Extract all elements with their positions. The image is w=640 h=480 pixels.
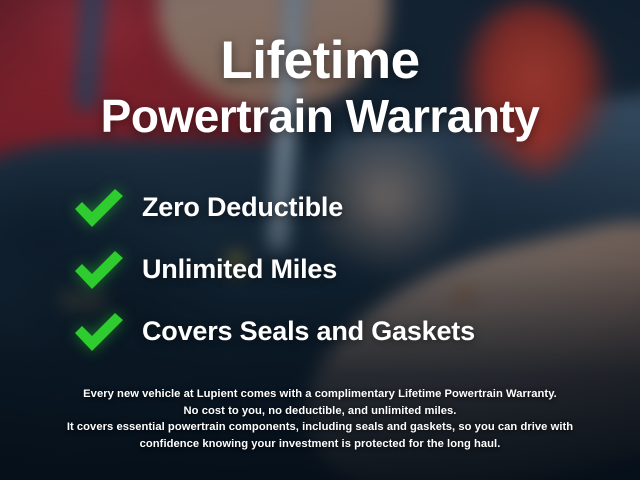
body-line: No cost to you, no deductible, and unlim…	[26, 403, 614, 420]
benefit-label: Unlimited Miles	[142, 254, 337, 285]
benefit-item: Covers Seals and Gaskets	[70, 300, 610, 362]
headline-line-2: Powertrain Warranty	[0, 90, 640, 142]
benefits-list: Zero Deductible Unlimited Miles Covers S…	[70, 176, 610, 362]
body-line: It covers essential powertrain component…	[26, 419, 614, 436]
headline: Lifetime Powertrain Warranty	[0, 34, 640, 142]
headline-line-1: Lifetime	[0, 34, 640, 88]
body-paragraph: Every new vehicle at Lupient comes with …	[0, 386, 640, 452]
benefit-item: Zero Deductible	[70, 176, 610, 238]
check-icon	[70, 247, 128, 291]
check-icon	[70, 185, 128, 229]
body-line: confidence knowing your investment is pr…	[26, 436, 614, 453]
body-line: Every new vehicle at Lupient comes with …	[26, 386, 614, 403]
benefit-item: Unlimited Miles	[70, 238, 610, 300]
check-icon	[70, 309, 128, 353]
warranty-promo-banner: Lifetime Powertrain Warranty Zero Deduct…	[0, 0, 640, 480]
benefit-label: Zero Deductible	[142, 192, 343, 223]
benefit-label: Covers Seals and Gaskets	[142, 316, 475, 347]
banner-content: Lifetime Powertrain Warranty Zero Deduct…	[0, 0, 640, 480]
